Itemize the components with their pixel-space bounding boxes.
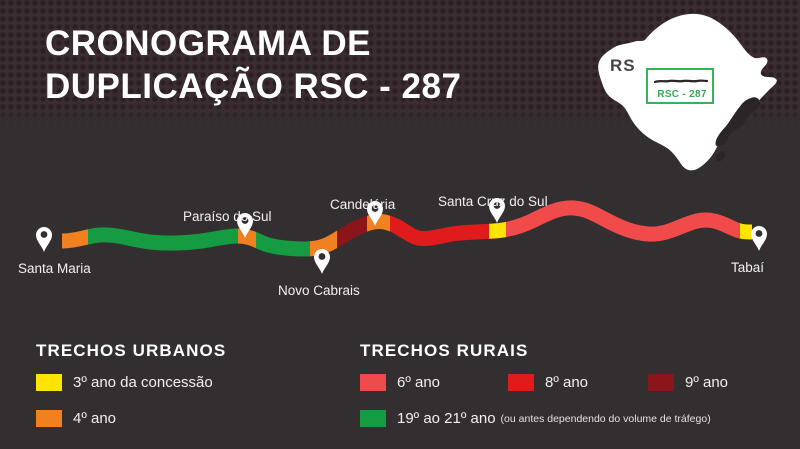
pin-novo-cabrais [314,249,330,274]
highway-badge-label: RSC - 287 [648,89,716,100]
legend: TRECHOS URBANOS 3º ano da concessão 4º a… [0,330,800,449]
legend-swatch-red-light [360,374,386,391]
highway-badge: RSC - 287 [646,68,714,104]
legend-swatch-orange [36,410,62,427]
legend-title-urbanos: TRECHOS URBANOS [36,341,226,361]
road-schedule-diagram: Santa Maria Paraíso do Sul Novo Cabrais … [0,186,800,306]
city-label-santa-maria: Santa Maria [18,261,91,276]
legend-item-rural-6ano: 6º ano [360,374,440,391]
legend-item-rural-8ano: 8º ano [508,374,588,391]
legend-label-rural-6ano: 6º ano [397,374,440,391]
legend-label-rural-8ano: 8º ano [545,374,588,391]
legend-label-rural-19-21ano: 19º ao 21º ano [397,410,496,427]
city-label-santa-cruz-do-sul: Santa Cruz do Sul [438,194,548,209]
road-path-svg [0,186,800,306]
legend-label-urban-4ano: 4º ano [73,410,116,427]
rs-state-label: RS [610,56,636,76]
city-label-tabai: Tabaí [731,260,764,275]
legend-swatch-red-bright [508,374,534,391]
legend-label-urban-3ano: 3º ano da concessão [73,374,213,391]
map-inset: RS RSC - 287 [583,6,798,181]
legend-item-urban-3ano: 3º ano da concessão [36,374,213,391]
legend-item-rural-19-21ano: 19º ao 21º ano (ou antes dependendo do v… [360,410,711,427]
legend-swatch-red-dark [648,374,674,391]
legend-label-rural-9ano: 9º ano [685,374,728,391]
legend-swatch-green [360,410,386,427]
legend-note-rural-19-21ano: (ou antes dependendo do volume de tráfeg… [501,413,711,425]
title-line-1: CRONOGRAMA DE [45,22,461,65]
infographic-root: CRONOGRAMA DE DUPLICAÇÃO RSC - 287 RS RS… [0,0,800,449]
legend-title-rurais: TRECHOS RURAIS [360,341,528,361]
city-label-novo-cabrais: Novo Cabrais [278,283,360,298]
legend-item-rural-9ano: 9º ano [648,374,728,391]
legend-swatch-yellow [36,374,62,391]
pin-santa-maria [36,227,52,252]
title-line-2: DUPLICAÇÃO RSC - 287 [45,65,461,108]
pin-tabai [751,226,767,251]
page-title: CRONOGRAMA DE DUPLICAÇÃO RSC - 287 [45,22,461,108]
legend-item-urban-4ano: 4º ano [36,410,116,427]
city-label-candelaria: Candelária [330,197,395,212]
city-label-paraiso-do-sul: Paraíso do Sul [183,209,272,224]
highway-squiggle-icon [654,78,708,84]
